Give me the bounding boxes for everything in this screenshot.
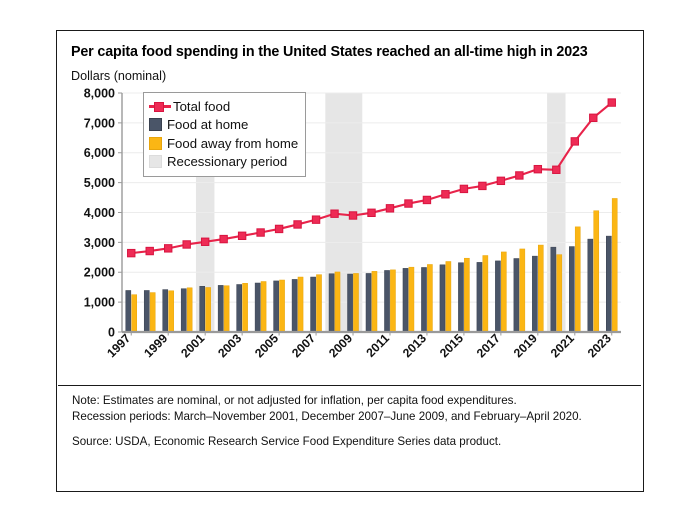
y-axis-tick-label: 5,000: [84, 176, 115, 190]
y-axis-tick-label: 7,000: [84, 116, 115, 130]
x-axis-ticks-group: 1997199920012003200520072009201120132015…: [104, 331, 614, 360]
total-food-data-point: [423, 196, 430, 203]
bar: [588, 239, 593, 332]
y-axis-unit-label: Dollars (nominal): [71, 70, 629, 84]
bar: [501, 252, 506, 332]
total-food-data-point: [460, 185, 467, 192]
bar: [150, 293, 155, 332]
bar: [237, 285, 242, 333]
y-axis-tick-label: 1,000: [84, 296, 115, 310]
x-axis-tick-label: 1999: [141, 331, 170, 360]
y-axis-tick-label: 8,000: [84, 87, 115, 100]
x-axis-tick-label: 2005: [252, 331, 281, 360]
total-food-data-point: [128, 250, 135, 257]
bar: [557, 255, 562, 332]
total-food-data-point: [368, 209, 375, 216]
screenshot-root: Per capita food spending in the United S…: [0, 0, 700, 526]
total-food-data-point: [183, 241, 190, 248]
bar: [329, 274, 334, 332]
bar: [366, 274, 371, 333]
x-axis-tick-label: 2013: [400, 331, 429, 360]
bar: [298, 277, 303, 332]
y-axis-tick-label: 0: [108, 326, 115, 340]
bar: [440, 265, 445, 332]
note-estimates: Note: Estimates are nominal, or not adju…: [72, 393, 627, 409]
square-swatch-icon: [149, 118, 162, 131]
square-swatch-icon: [149, 137, 162, 150]
bar: [218, 286, 223, 333]
square-swatch-icon: [149, 155, 162, 168]
line-marker-icon: [149, 100, 171, 113]
bar: [206, 288, 211, 333]
x-axis-tick-label: 2007: [289, 331, 318, 360]
bar: [538, 245, 543, 332]
total-food-data-point: [146, 247, 153, 254]
bar: [187, 288, 192, 332]
bar: [403, 269, 408, 333]
total-food-data-point: [349, 212, 356, 219]
bar: [335, 272, 340, 332]
bar: [594, 211, 599, 332]
x-axis-tick-label: 2017: [474, 331, 503, 360]
bar: [200, 286, 205, 332]
bar: [348, 274, 353, 332]
legend-item-total-food: Total food: [149, 97, 298, 116]
x-axis-tick-label: 2003: [215, 331, 244, 360]
bar: [532, 256, 537, 332]
bar: [390, 270, 395, 332]
total-food-data-point: [590, 114, 597, 121]
bar: [255, 283, 260, 332]
page-title: Per capita food spending in the United S…: [71, 43, 623, 61]
note-source: Source: USDA, Economic Research Service …: [72, 434, 627, 450]
bar: [483, 256, 488, 332]
bar: [569, 247, 574, 332]
legend-label: Recessionary period: [167, 155, 287, 168]
legend-label: Total food: [173, 100, 230, 113]
x-axis-tick-label: 2023: [585, 331, 614, 360]
y-axis-tick-label: 4,000: [84, 206, 115, 220]
y-axis-tick-label: 2,000: [84, 266, 115, 280]
total-food-data-point: [201, 238, 208, 245]
chart-footnotes: Note: Estimates are nominal, or not adju…: [71, 385, 629, 450]
total-food-data-point: [220, 236, 227, 243]
bar: [606, 236, 611, 332]
x-axis-tick-label: 2015: [437, 331, 466, 360]
bar: [224, 286, 229, 332]
total-food-data-point: [331, 210, 338, 217]
total-food-data-point: [294, 221, 301, 228]
x-axis-tick-label: 2021: [548, 331, 577, 360]
bar: [126, 291, 131, 333]
note-recession-periods: Recession periods: March–November 2001, …: [72, 409, 627, 425]
y-axis-ticks-group: 01,0002,0003,0004,0005,0006,0007,0008,00…: [84, 87, 122, 339]
bar: [144, 291, 149, 333]
bar: [464, 258, 469, 332]
bar: [575, 227, 580, 332]
bar: [132, 295, 137, 332]
legend-item-recessionary-period: Recessionary period: [149, 153, 298, 172]
bar: [427, 265, 432, 333]
total-food-data-point: [238, 232, 245, 239]
total-food-data-point: [405, 200, 412, 207]
chart-card: Per capita food spending in the United S…: [56, 30, 644, 492]
total-food-data-point: [312, 216, 319, 223]
bar: [421, 268, 426, 333]
bar: [551, 247, 556, 332]
total-food-data-point: [608, 99, 615, 106]
bar: [495, 261, 500, 332]
bar: [169, 291, 174, 332]
legend-label: Food away from home: [167, 137, 298, 150]
legend-label: Food at home: [167, 118, 248, 131]
bar: [274, 281, 279, 332]
total-food-data-point: [257, 229, 264, 236]
bar: [311, 277, 316, 332]
x-axis-tick-label: 2019: [511, 331, 540, 360]
total-food-data-point: [386, 205, 393, 212]
bar: [612, 199, 617, 333]
bar: [292, 280, 297, 333]
y-axis-tick-label: 3,000: [84, 236, 115, 250]
total-food-data-point: [534, 166, 541, 173]
bar: [353, 274, 358, 333]
total-food-data-point: [571, 138, 578, 145]
total-food-data-point: [479, 182, 486, 189]
bar: [477, 263, 482, 333]
total-food-data-point: [275, 225, 282, 232]
chart-legend: Total food Food at home Food away from h…: [143, 92, 306, 177]
plot-area: 01,0002,0003,0004,0005,0006,0007,0008,00…: [71, 87, 629, 379]
bar: [384, 271, 389, 333]
chart-card-inner: Per capita food spending in the United S…: [57, 31, 643, 491]
total-food-data-point: [553, 166, 560, 173]
x-axis-tick-label: 2001: [178, 331, 207, 360]
total-food-data-point: [516, 172, 523, 179]
bar: [181, 289, 186, 332]
footnote-divider: [58, 385, 641, 386]
bar: [514, 259, 519, 332]
bar: [261, 282, 266, 332]
bar: [243, 283, 248, 332]
bar: [520, 249, 525, 332]
bar: [316, 275, 321, 332]
x-axis-tick-label: 2011: [363, 331, 392, 360]
legend-item-food-at-home: Food at home: [149, 116, 298, 135]
y-axis-tick-label: 6,000: [84, 146, 115, 160]
x-axis-tick-label: 2009: [326, 331, 355, 360]
bar: [372, 271, 377, 332]
total-food-data-point: [165, 245, 172, 252]
bar: [409, 267, 414, 332]
total-food-data-point: [497, 177, 504, 184]
bar: [458, 263, 463, 332]
total-food-data-point: [442, 191, 449, 198]
bar: [446, 262, 451, 333]
bar: [163, 290, 168, 332]
bar: [279, 280, 284, 332]
legend-item-food-away-from-home: Food away from home: [149, 134, 298, 153]
